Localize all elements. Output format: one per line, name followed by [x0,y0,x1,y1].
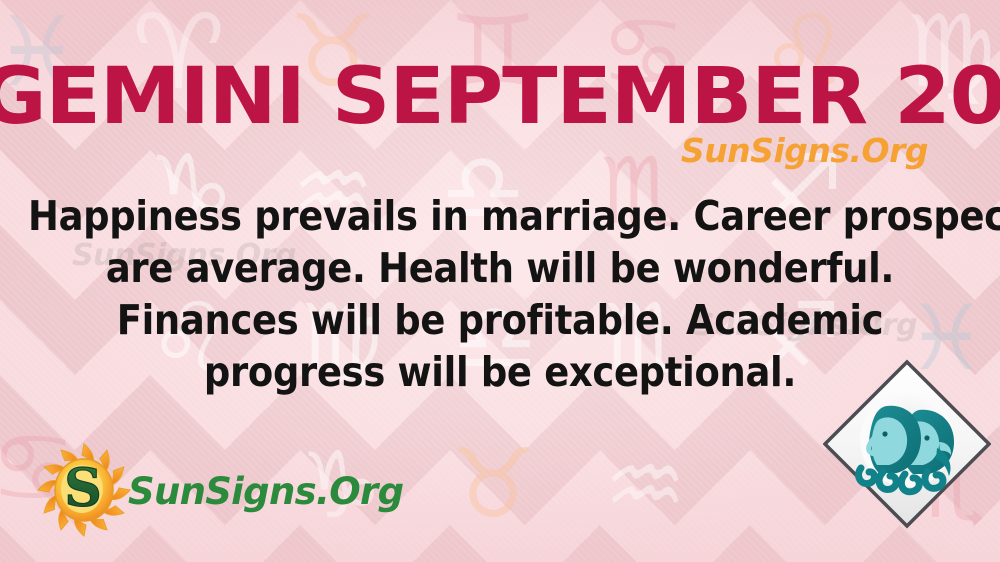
horoscope-line-3: Finances will be profitable. Academic [28,294,972,346]
logo-letter-s: S [64,458,102,519]
page-title: GEMINI SEPTEMBER 2023 [0,52,1000,142]
brand-wordmark-orange: SunSigns.Org [681,131,928,170]
site-logo[interactable]: S SunSigns.Org [32,436,362,542]
site-logo-text: SunSigns.Org [128,470,403,513]
horoscope-line-1: Happiness prevails in marriage. Career p… [28,190,972,242]
sun-with-s-logo-icon: S [32,438,136,542]
horoscope-line-2: are average. Health will be wonderful. [28,242,972,294]
horoscope-card: ♓ ♈ ♉ ♊ ♋ ♌ ♍ ♎ ♏ ♐ ♑ ♒ ♌ ♍ ♎ ♏ ♐ ♓ ♋ ♑ … [0,0,1000,562]
gemini-twins-badge-icon[interactable] [823,358,991,530]
